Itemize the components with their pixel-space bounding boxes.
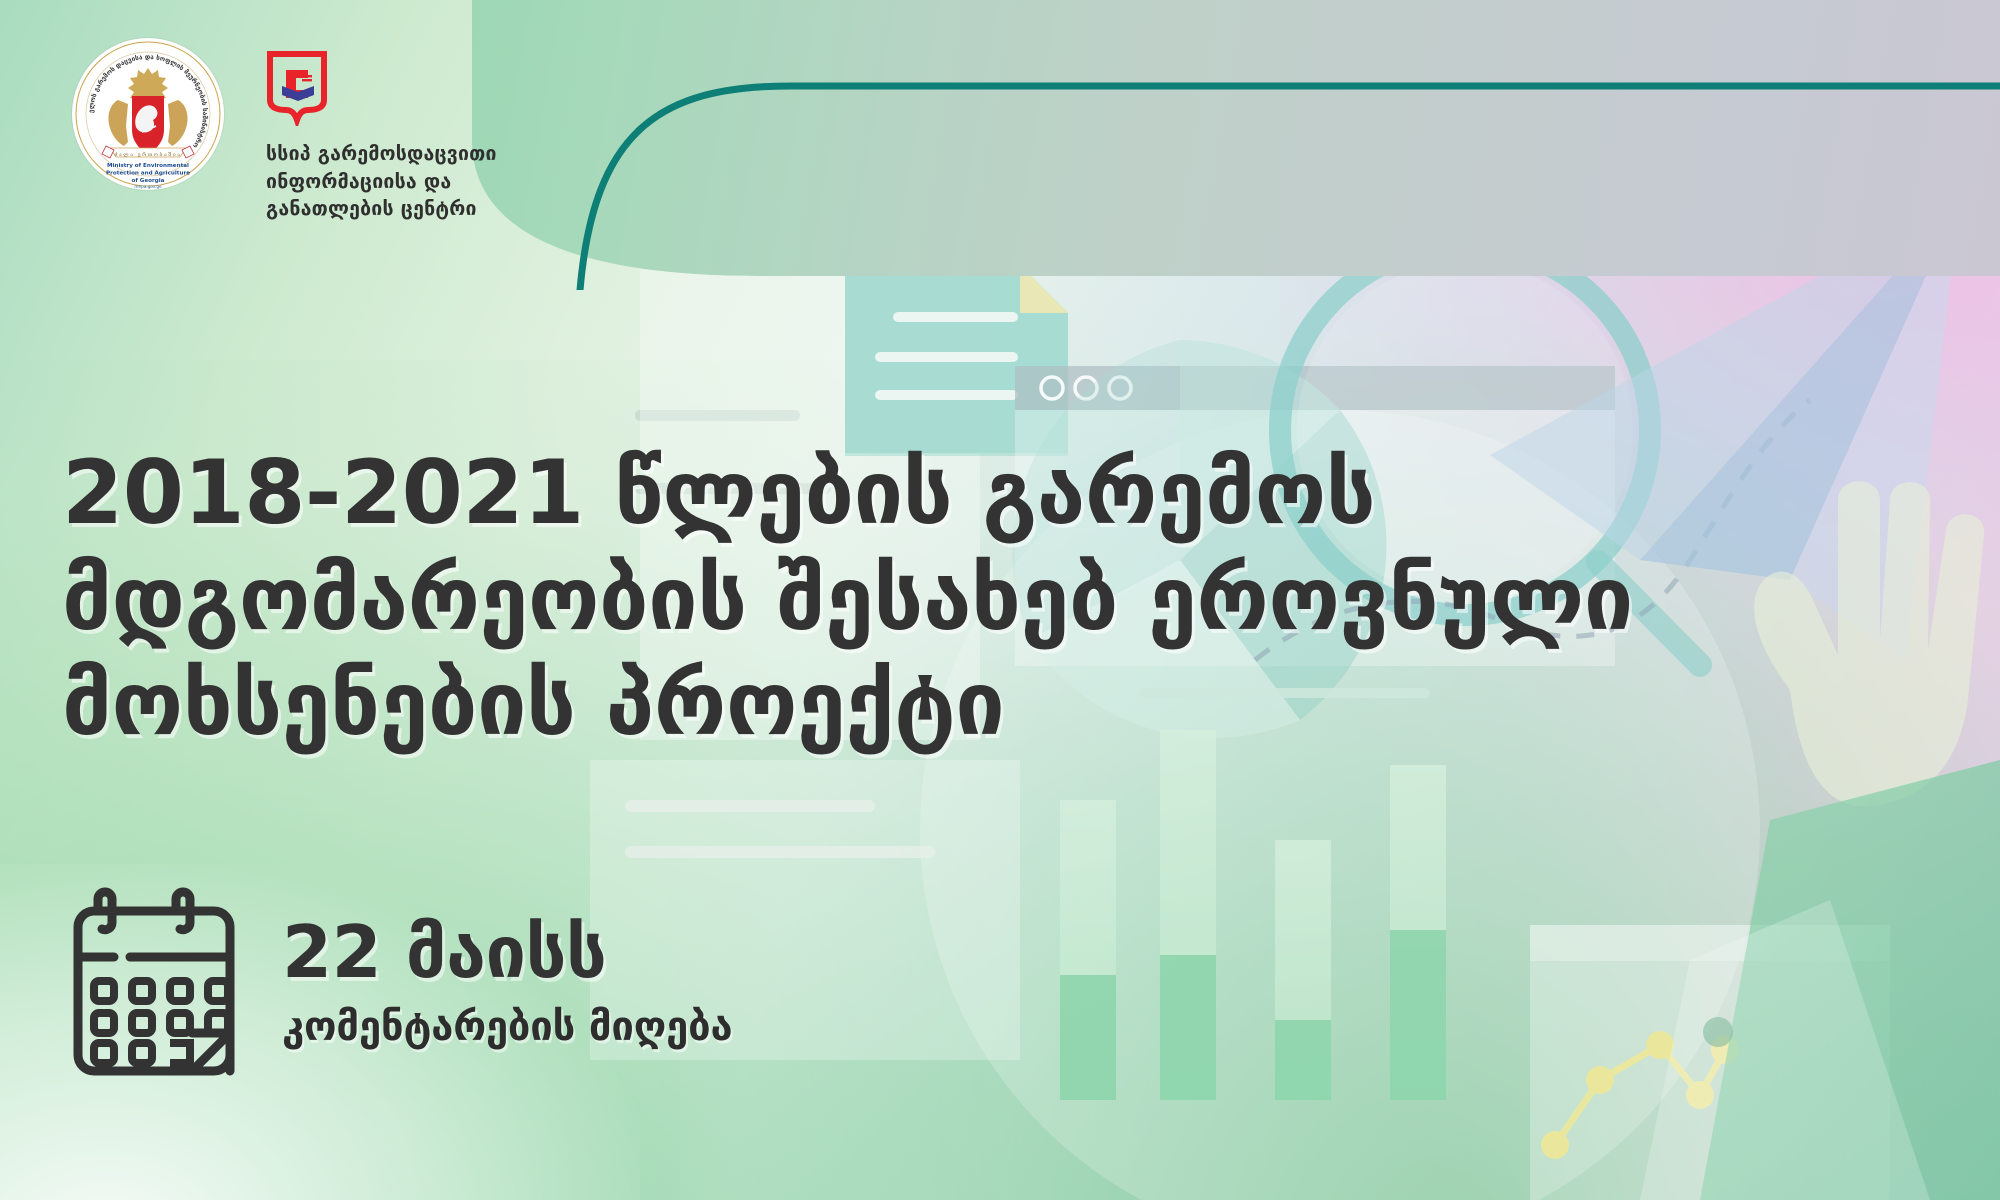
page-title: 2018-2021 წლების გარემოს მდგომარეობის შე…: [62, 440, 1682, 757]
center-logo-block: სსიპ გარემოსდაცვითი ინფორმაციისა და განა…: [266, 38, 497, 223]
eiec-shield-book-logo-icon: [266, 50, 328, 126]
georgia-coat-of-arms-seal-icon: საქართველოს გარემოს დაცვისა და სოფლის მე…: [72, 38, 224, 190]
deadline-caption: კომენტარების მიღება: [282, 1004, 732, 1050]
center-logo-name: სსიპ გარემოსდაცვითი ინფორმაციისა და განა…: [266, 140, 497, 223]
svg-text:ძალა ერთობაშია: ძალა ერთობაშია: [114, 151, 181, 158]
logo-group: საქართველოს გარემოს დაცვისა და სოფლის მე…: [72, 38, 497, 223]
ministry-seal-logo: საქართველოს გარემოს დაცვისა და სოფლის მე…: [72, 38, 224, 190]
title-line-1: 2018-2021 წლების გარემოს: [62, 440, 1682, 546]
poster-canvas: საქართველოს გარემოს დაცვისა და სოფლის მე…: [0, 0, 2000, 1200]
seal-website: mepa.gov.ge: [134, 184, 162, 189]
title-line-2: მდგომარეობის შესახებ ეროვნული: [62, 546, 1682, 652]
title-line-3: მოხსენების პროექტი: [62, 651, 1682, 757]
seal-name-en-2: Protection and Agriculture: [106, 171, 190, 177]
deadline-block: 22 მაისს კომენტარების მიღება: [60, 885, 732, 1081]
deadline-date: 22 მაისს: [282, 916, 732, 989]
calendar-icon: [60, 885, 248, 1081]
seal-name-en-1: Ministry of Environmental: [107, 163, 189, 169]
